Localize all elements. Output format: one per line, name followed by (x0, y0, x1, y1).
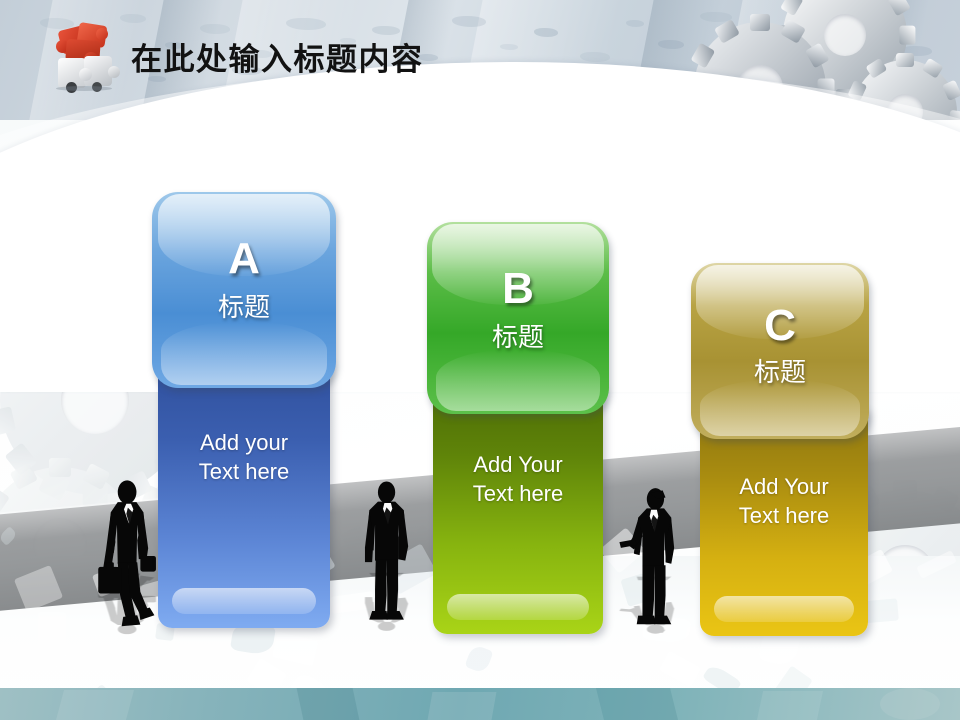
gear-hub (824, 14, 866, 56)
card-c-letter: C (691, 301, 869, 351)
card-b-body-line2: Text here (473, 481, 564, 506)
card-b-body-line1: Add Your (473, 452, 562, 477)
card-a-body-line2: Text here (199, 459, 290, 484)
card-c-body-text: Add Your Text here (700, 472, 868, 530)
map-speckle (534, 28, 558, 37)
card-c-subtitle: 标题 (691, 352, 869, 389)
card-a-header[interactable]: A 标题 (152, 192, 336, 388)
card-b-header[interactable]: B 标题 (427, 222, 609, 414)
background-polygon (38, 612, 67, 644)
card-b-body[interactable]: Add Your Text here (433, 386, 603, 634)
map-speckle (658, 40, 684, 49)
card-c-footer-pill (714, 596, 854, 622)
slide-canvas: 在此处输入标题内容 Add your Text here A 标题 Add Yo… (0, 0, 960, 720)
card-a-body[interactable]: Add your Text here (158, 360, 330, 628)
card-a-subtitle: 标题 (152, 287, 336, 324)
page-title: 在此处输入标题内容 (131, 34, 424, 79)
map-speckle (626, 20, 644, 27)
card-b-letter: B (427, 264, 609, 314)
card-a-body-line1: Add your (200, 430, 288, 455)
map-speckle (452, 16, 486, 27)
card-c-body-line2: Text here (739, 503, 830, 528)
footer-band (0, 688, 960, 720)
card-a-footer-pill (172, 588, 316, 614)
card-a-letter: A (152, 234, 336, 284)
card-c-header[interactable]: C 标题 (691, 263, 869, 439)
card-c-body-line1: Add Your (739, 474, 828, 499)
card-c-body[interactable]: Add Your Text here (700, 408, 868, 636)
puzzle-piece-icon (52, 24, 126, 94)
card-b-footer-pill (447, 594, 589, 620)
card-a-body-text: Add your Text here (158, 428, 330, 486)
map-speckle (500, 44, 518, 50)
businessman-reading-document-silhouette (618, 478, 690, 638)
map-speckle (120, 14, 146, 23)
card-b-body-text: Add Your Text here (433, 450, 603, 508)
businessman-standing-silhouette (352, 467, 424, 637)
card-b-subtitle: 标题 (427, 317, 609, 354)
